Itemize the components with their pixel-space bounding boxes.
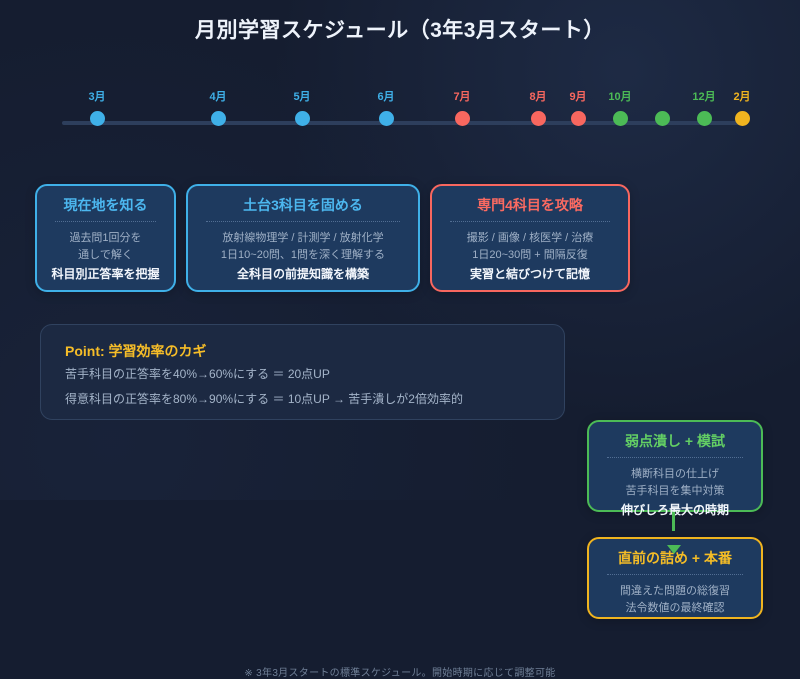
timeline-node-label: 3月 xyxy=(67,90,127,104)
timeline-node-dot xyxy=(379,111,394,126)
timeline-node-dot xyxy=(613,111,628,126)
footnote: ※ 3年3月スタートの標準スケジュール。開始時期に応じて調整可能 xyxy=(0,664,800,679)
card-highlight-line: 全科目の前提知識を構築 xyxy=(196,265,410,284)
point-box-line: 得意科目の正答率を80%→90%にする ＝ 10点UP → 苦手潰しが2倍効率的 xyxy=(65,388,540,411)
card-body-line: 法令数値の最終確認 xyxy=(597,600,753,617)
phase-card-1: 土台3科目を固める放射線物理学 / 計測学 / 放射化学1日10~20問、1問を… xyxy=(186,184,420,292)
timeline-node-label: 5月 xyxy=(272,90,332,104)
flow-connector-line xyxy=(672,512,675,531)
timeline-node-label: 4月 xyxy=(188,90,248,104)
card-body-line: 過去問1回分を xyxy=(45,230,166,247)
card-divider xyxy=(450,221,610,222)
month-timeline: 3月4月5月6月7月8月9月10月12月2月 xyxy=(0,90,800,132)
point-box-lines: 苦手科目の正答率を40%→60%にする ＝ 20点UP得意科目の正答率を80%→… xyxy=(65,363,540,411)
timeline-node-6月: 6月 xyxy=(356,90,416,126)
phase-card-2: 専門4科目を攻略撮影 / 画像 / 核医学 / 治療1日20~30問 + 間隔反… xyxy=(430,184,630,292)
timeline-node-4月: 4月 xyxy=(188,90,248,126)
timeline-node-label: 7月 xyxy=(432,90,492,104)
card-highlight-line: 科目別正答率を把握 xyxy=(45,265,166,284)
timeline-node-dot xyxy=(295,111,310,126)
timeline-node-dot xyxy=(211,111,226,126)
timeline-node-3月: 3月 xyxy=(67,90,127,126)
timeline-node-7月: 7月 xyxy=(432,90,492,126)
infographic-canvas: 月別学習スケジュール（3年3月スタート） 3月4月5月6月7月8月9月10月12… xyxy=(0,0,800,500)
point-box: Point: 学習効率のカギ 苦手科目の正答率を40%→60%にする ＝ 20点… xyxy=(40,324,565,420)
timeline-node-dot xyxy=(735,111,750,126)
card-body-line: 1日20~30問 + 間隔反復 xyxy=(440,247,620,264)
timeline-node-5月: 5月 xyxy=(272,90,332,126)
card-divider xyxy=(607,574,743,575)
card-title: 弱点潰し + 模試 xyxy=(597,432,753,450)
card-divider xyxy=(206,221,400,222)
card-highlight-line: 実習と結びつけて記憶 xyxy=(440,265,620,284)
card-body-line: 通しで解く xyxy=(45,247,166,264)
timeline-node-label: 2月 xyxy=(712,90,772,104)
flow-connector-arrow-icon xyxy=(667,545,681,554)
timeline-node-dot xyxy=(90,111,105,126)
card-divider xyxy=(55,221,156,222)
point-box-title: Point: 学習効率のカギ xyxy=(65,341,540,361)
timeline-node-dot xyxy=(531,111,546,126)
card-highlight-line: 伸びしろ最大の時期 xyxy=(597,501,753,520)
page-title: 月別学習スケジュール（3年3月スタート） xyxy=(0,14,800,44)
phase-card-0: 現在地を知る過去問1回分を通しで解く科目別正答率を把握 xyxy=(35,184,176,292)
timeline-node-dot xyxy=(455,111,470,126)
timeline-node-dot xyxy=(571,111,586,126)
card-body-line: 間違えた問題の総復習 xyxy=(597,583,753,600)
card-body-line: 苦手科目を集中対策 xyxy=(597,483,753,500)
timeline-node-dot xyxy=(655,111,670,126)
card-title: 現在地を知る xyxy=(45,196,166,214)
card-title: 専門4科目を攻略 xyxy=(440,196,620,214)
card-divider xyxy=(607,457,743,458)
card-body-line: 1日10~20問、1問を深く理解する xyxy=(196,247,410,264)
card-body-line: 放射線物理学 / 計測学 / 放射化学 xyxy=(196,230,410,247)
timeline-node-2月: 2月 xyxy=(712,90,772,126)
timeline-node-dot xyxy=(697,111,712,126)
side-card-0: 弱点潰し + 模試横断科目の仕上げ苦手科目を集中対策伸びしろ最大の時期 xyxy=(587,420,763,512)
point-box-line: 苦手科目の正答率を40%→60%にする ＝ 20点UP xyxy=(65,363,540,386)
card-title: 土台3科目を固める xyxy=(196,196,410,214)
timeline-node-label: 6月 xyxy=(356,90,416,104)
card-body-line: 撮影 / 画像 / 核医学 / 治療 xyxy=(440,230,620,247)
card-body-line: 横断科目の仕上げ xyxy=(597,466,753,483)
